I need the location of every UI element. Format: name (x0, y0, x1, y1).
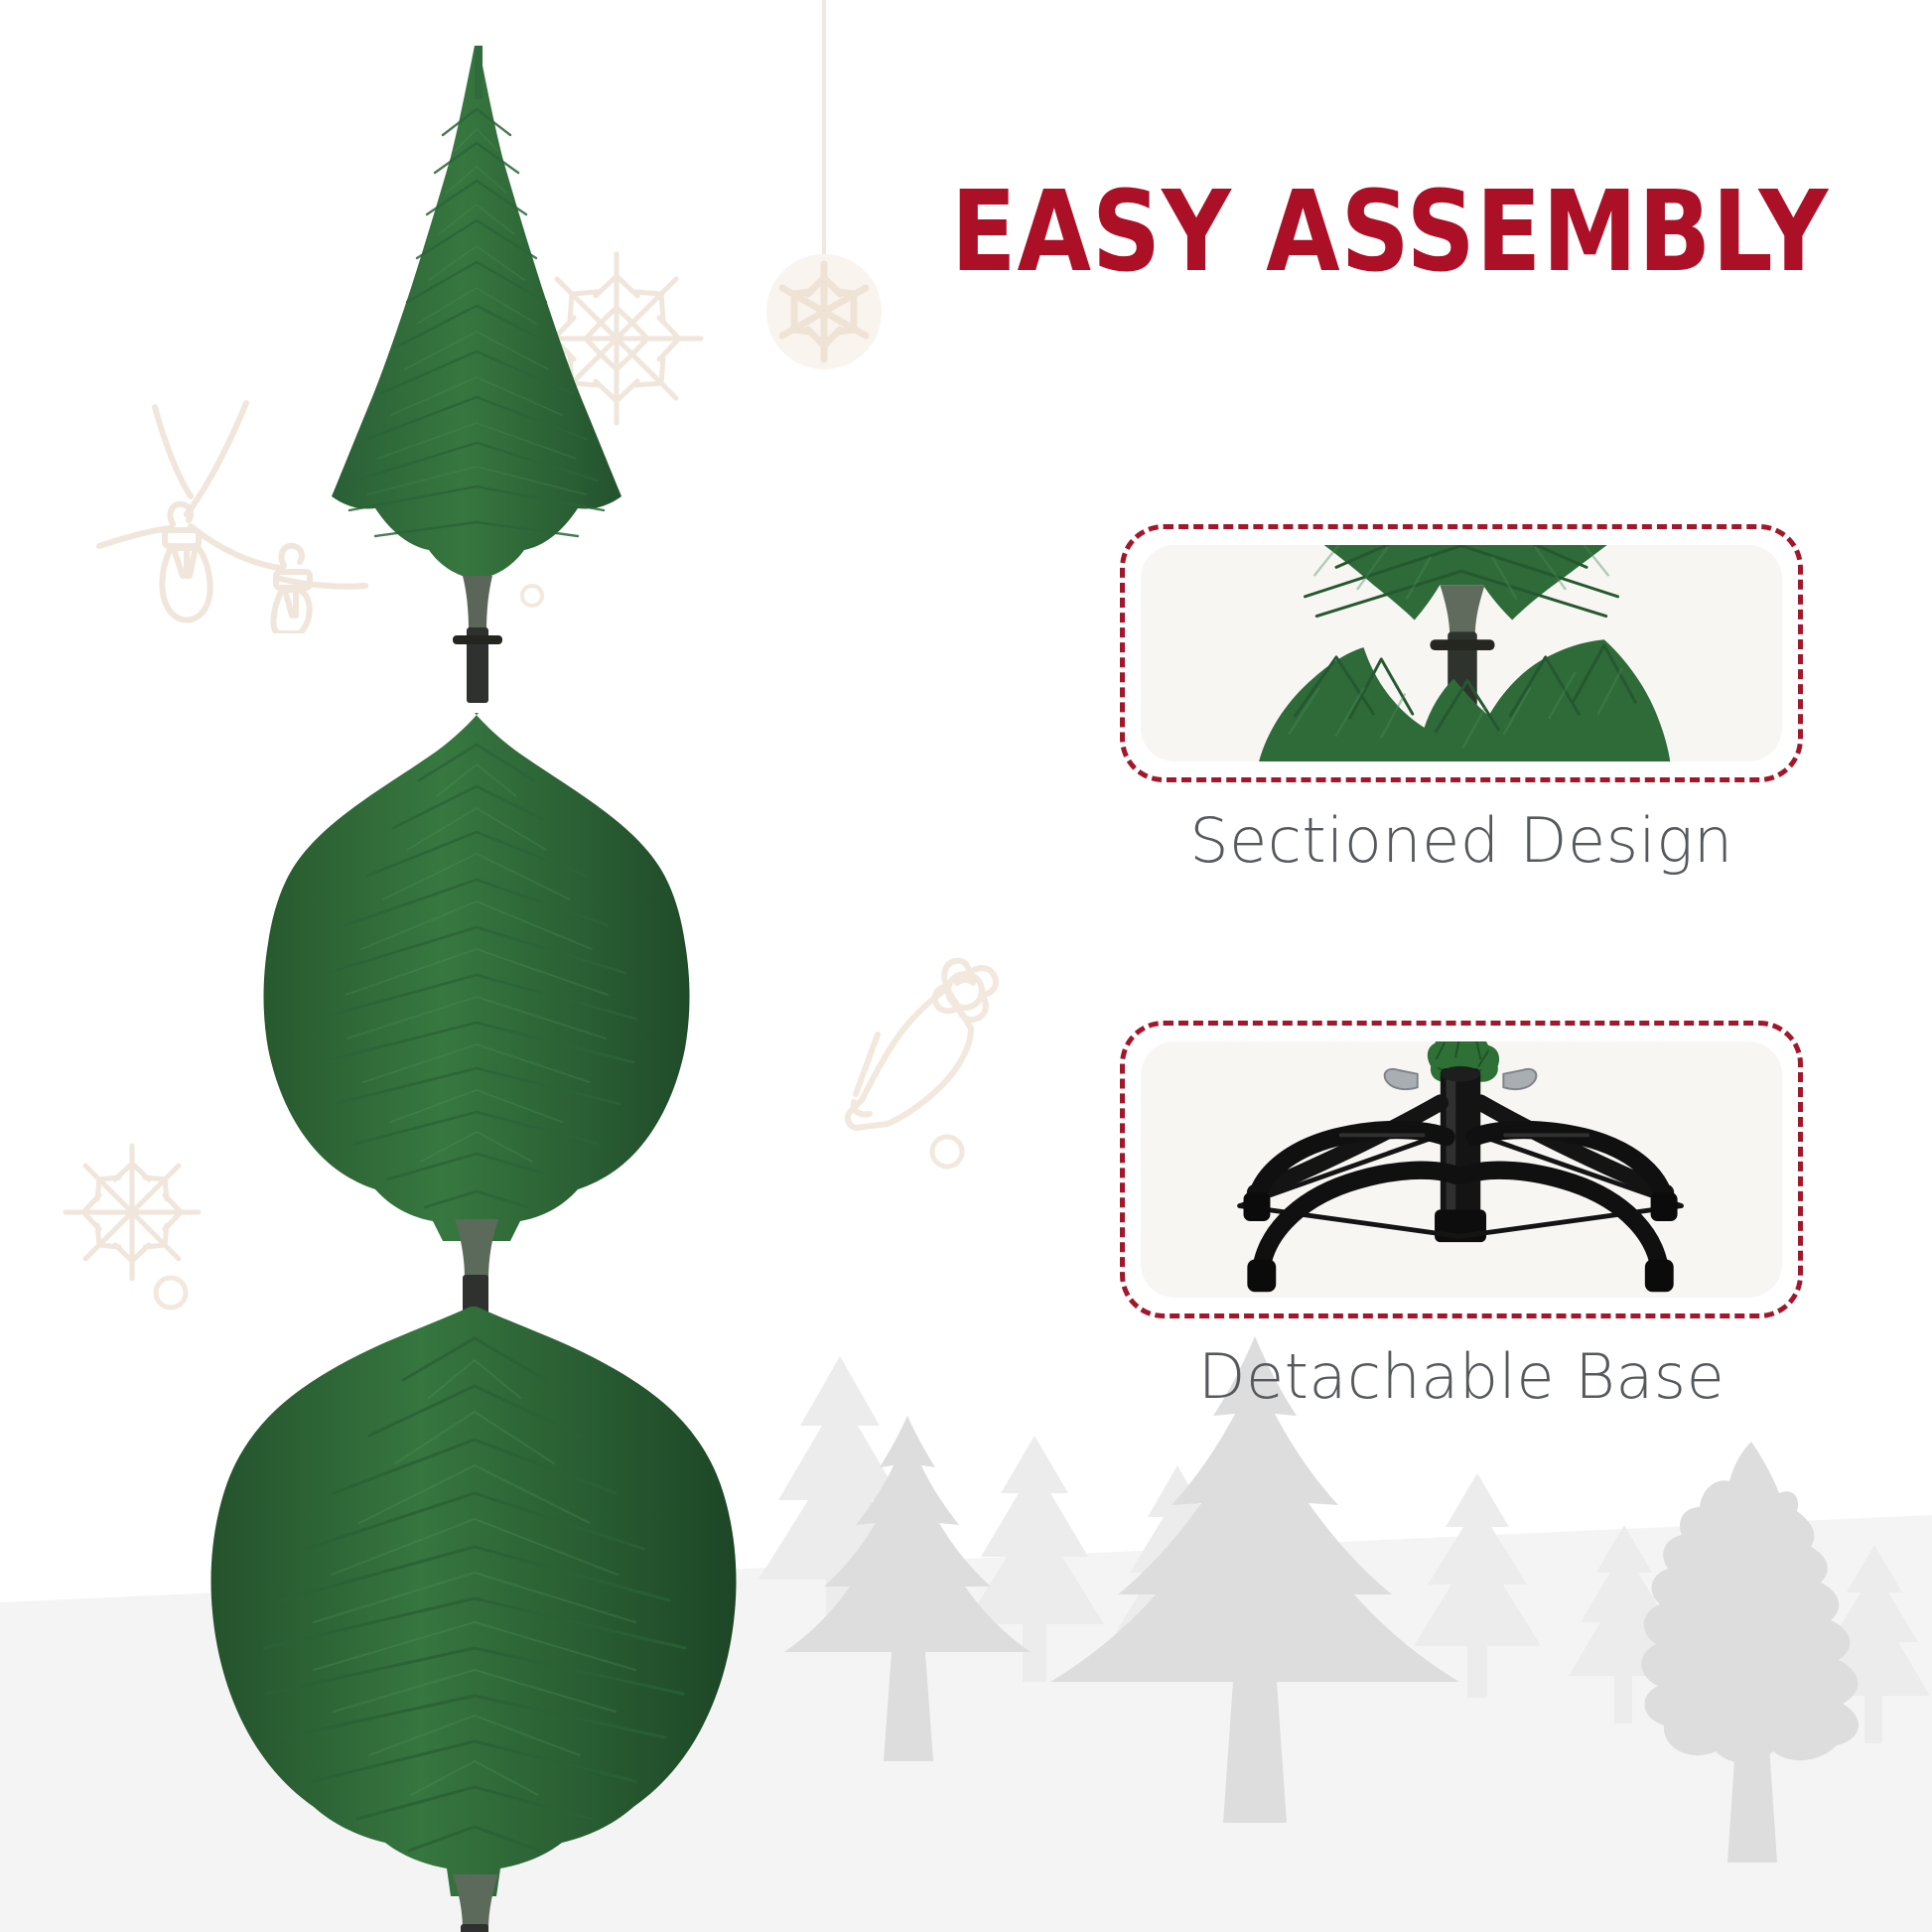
feature-caption: Sectioned Design (1120, 804, 1803, 877)
tree-middle-section (208, 705, 745, 1340)
feature-image-detachable-base (1141, 1041, 1782, 1298)
tree-connector-pole (453, 1874, 498, 1932)
tree-top-section (258, 40, 695, 735)
bell-icon (830, 937, 1048, 1136)
feature-sectioned-design[interactable]: Sectioned Design (1120, 524, 1803, 877)
hanging-ornament-icon (764, 0, 884, 411)
forest-front-row (784, 1336, 1859, 1863)
forest-back-row (759, 1356, 1930, 1743)
feature-detachable-base[interactable]: Detachable Base (1120, 1021, 1803, 1413)
feature-caption: Detachable Base (1120, 1340, 1803, 1413)
tree-section-connector-photo (1141, 545, 1782, 761)
tree-section-stack (169, 20, 764, 1608)
feature-card-frame (1120, 524, 1803, 782)
page-title: EASY ASSEMBLY (946, 175, 1834, 292)
folding-metal-tree-stand-photo (1141, 1041, 1782, 1298)
tree-connector-pole (453, 576, 502, 703)
feature-card-frame (1120, 1021, 1803, 1318)
feature-image-sectioned-design (1141, 545, 1782, 761)
infographic-canvas: EASY ASSEMBLY (0, 0, 1932, 1932)
dot-icon (927, 1132, 967, 1172)
tree-bottom-section (169, 1301, 784, 1932)
